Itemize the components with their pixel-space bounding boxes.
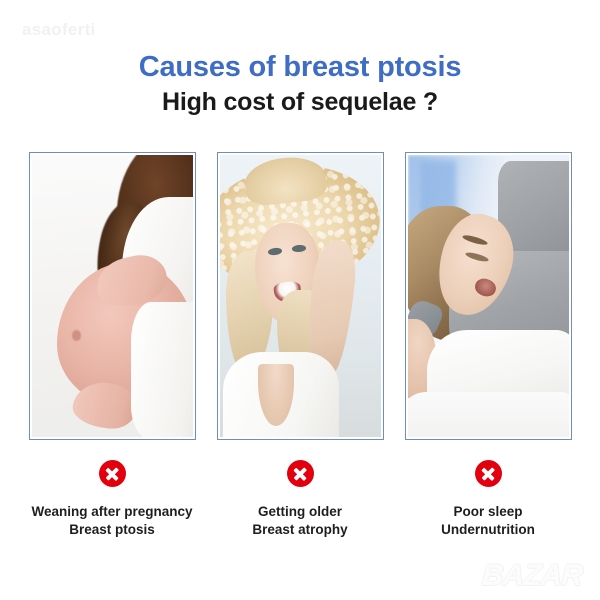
cause-card-2: Getting older Breast atrophy bbox=[217, 152, 384, 539]
cause-caption-2-line2: Breast atrophy bbox=[252, 521, 347, 539]
cause-columns: Weaning after pregnancy Breast ptosis bbox=[0, 152, 600, 552]
cause-caption-1-line1: Weaning after pregnancy bbox=[31, 504, 192, 519]
photo-poor-sleep bbox=[408, 155, 569, 437]
cause-caption-2: Getting older Breast atrophy bbox=[252, 503, 347, 539]
cause-caption-3: Poor sleep Undernutrition bbox=[441, 503, 535, 539]
photo-frame-2 bbox=[217, 152, 384, 440]
x-circle-icon bbox=[99, 460, 126, 487]
marketplace-watermark: BAZAR bbox=[481, 559, 583, 593]
page-subtitle: High cost of sequelae ? bbox=[0, 89, 600, 116]
photo-pregnancy bbox=[32, 155, 193, 437]
top-garment-shape bbox=[131, 302, 192, 437]
photo-frame-3 bbox=[405, 152, 572, 440]
x-circle-icon bbox=[287, 460, 314, 487]
brand-watermark: asaoferti bbox=[22, 20, 96, 40]
cause-card-3: Poor sleep Undernutrition bbox=[405, 152, 572, 539]
cause-caption-1-line2: Breast ptosis bbox=[31, 521, 192, 539]
cause-caption-3-line2: Undernutrition bbox=[441, 521, 535, 539]
title-block: Causes of breast ptosis High cost of seq… bbox=[0, 52, 600, 116]
cause-caption-2-line1: Getting older bbox=[258, 504, 342, 519]
cause-caption-3-line1: Poor sleep bbox=[453, 504, 522, 519]
cause-caption-1: Weaning after pregnancy Breast ptosis bbox=[31, 503, 192, 539]
x-circle-icon bbox=[475, 460, 502, 487]
photo-frame-1 bbox=[29, 152, 196, 440]
page-title: Causes of breast ptosis bbox=[0, 52, 600, 83]
infographic-poster: asaoferti Causes of breast ptosis High c… bbox=[0, 0, 600, 600]
bed-sheet-shape bbox=[408, 392, 569, 437]
photo-aging bbox=[220, 155, 381, 437]
cause-card-1: Weaning after pregnancy Breast ptosis bbox=[29, 152, 196, 539]
